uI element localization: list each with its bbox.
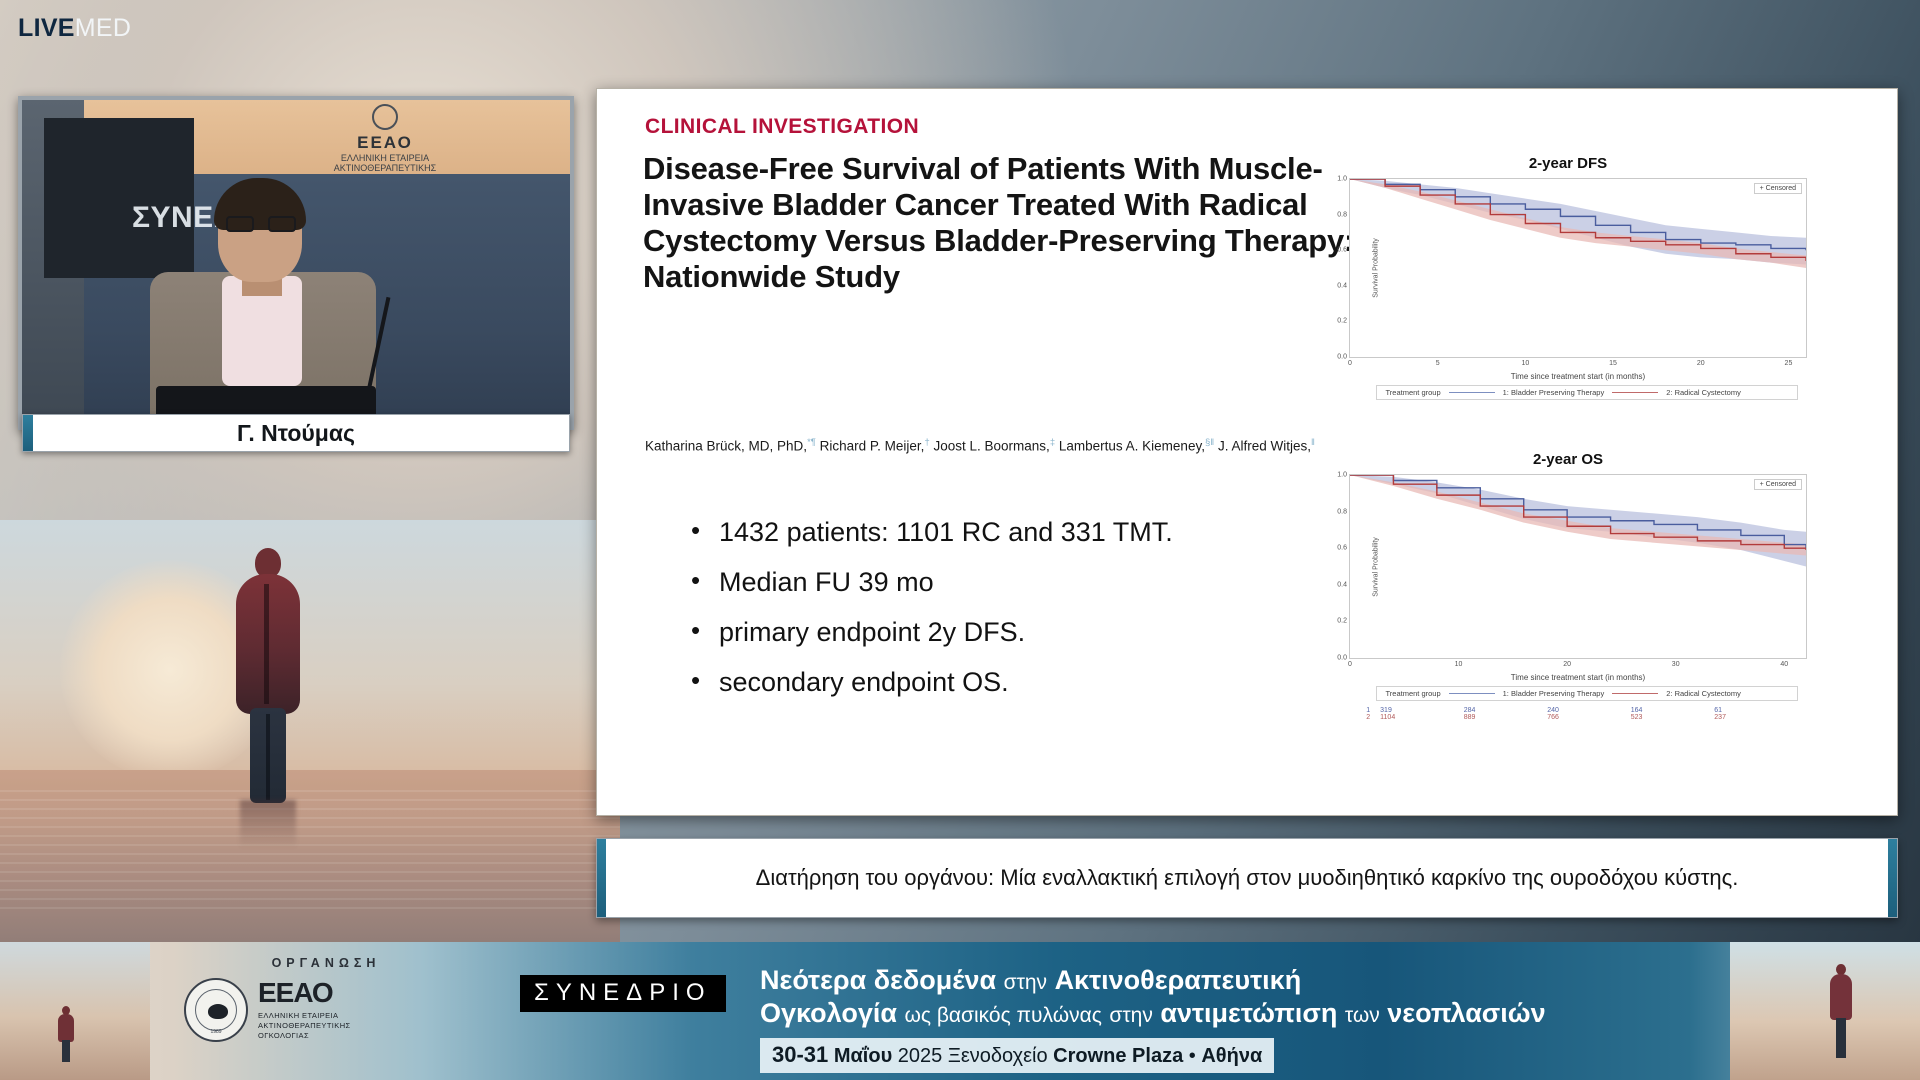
eeao-wordmark: ΕΕΑΟ ΕΛΛΗΝΙΚΗ ΕΤΑΙΡΕΙΑ ΑΚΤΙΝΟΘΕΡΑΠΕΥΤΙΚΗ… [258,979,351,1041]
at-risk-value: 319 [1380,707,1464,714]
author-name: J. Alfred Witjes, [1218,439,1311,454]
chart-y-tick: 0.6 [1337,247,1347,254]
chart-y-tick: 0.2 [1337,318,1347,325]
at-risk-value: 61 [1714,707,1798,714]
chart-svg [1350,475,1806,658]
organizer-label: ΟΡΓΑΝΩΣΗ [176,956,476,970]
chart-x-tick: 0 [1348,360,1352,367]
speaker-name: Γ. Ντούμας [237,420,355,447]
congress-line2-part1: Ογκολογία [760,998,897,1028]
eeao-seal-icon: 1989 [184,978,248,1042]
backdrop-org-line1: ΕΛΛΗΝΙΚΗ ΕΤΑΙΡΕΙΑ [310,153,460,163]
author-name: Joost L. Boormans, [934,439,1050,454]
chart-x-tick: 0 [1348,661,1352,668]
chart-svg [1350,179,1806,357]
author-affiliation-mark: ‡ [1050,437,1055,448]
author-name: Katharina Brück, MD, PhD, [645,439,807,454]
at-risk-row: 21104889766523237 [1358,714,1798,721]
chart-y-tick: 1.0 [1337,472,1347,479]
backdrop-org-logo: ΕΕΑΟ ΕΛΛΗΝΙΚΗ ΕΤΑΙΡΕΙΑ ΑΚΤΙΝΟΘΕΡΑΠΕΥΤΙΚΗ… [310,104,460,166]
congress-date-venue: 30-31 Μαΐου 2025 Ξενοδοχείο Crowne Plaza… [760,1038,1274,1073]
chart-y-tick: 0.8 [1337,508,1347,515]
seal-year: 1989 [186,1029,246,1035]
congress-line2-part6: νεοπλασιών [1387,998,1545,1028]
slide-bullet-item: secondary endpoint OS. [663,669,1403,696]
caption-text: Διατήρηση του οργάνου: Μία εναλλακτική ε… [756,864,1739,893]
chart-x-axis-label: Time since treatment start (in months) [1349,673,1807,682]
congress-title-block: Νεότερα δεδομένα στην Ακτινοθεραπευτική … [760,964,1760,1073]
author-affiliation-mark: *¶ [807,437,816,448]
broadcast-screen: LIVEMED ΕΕΑΟ ΕΛΛΗΝΙΚΗ ΕΤΑΙΡΕΙΑ ΑΚΤΙΝΟΘΕΡ… [0,0,1920,1080]
chart-legend-series-2: 2: Radical Cystectomy [1666,388,1741,397]
slide-bullet-item: Median FU 39 mo [663,569,1403,596]
chart-x-tick: 5 [1436,360,1440,367]
at-risk-value: 240 [1547,707,1631,714]
chart-legend-series-2: 2: Radical Cystectomy [1666,689,1741,698]
banner-left-art [0,942,150,1080]
backdrop-org-line2: ΑΚΤΙΝΟΘΕΡΑΠΕΥΤΙΚΗΣ [310,163,460,173]
backdrop-congress-text: ΣΥΝΕΔΡΙΟ [132,200,552,237]
chart-y-tick: 0.2 [1337,618,1347,625]
at-risk-value: 523 [1631,714,1715,721]
chart-legend-title: Treatment group [1385,388,1440,397]
chart-2-year-dfs: 2-year DFS Survival Probability + Censor… [1303,155,1833,358]
slide-title: Disease-Free Survival of Patients With M… [643,151,1403,295]
speaker-glasses-icon [226,216,296,232]
at-risk-group: 2 [1358,714,1380,721]
chart-title: 2-year OS [1303,451,1833,468]
author-affiliation-mark: ‖ [1311,437,1315,448]
chart-group-legend: Treatment group 1: Bladder Preserving Th… [1376,686,1797,701]
chart-legend-series-1: 1: Bladder Preserving Therapy [1503,689,1605,698]
author-name: Lambertus A. Kiemeney, [1059,439,1205,454]
at-risk-value: 237 [1714,714,1798,721]
congress-line2-part5: των [1345,1004,1380,1027]
eeao-line3: ΟΓΚΟΛΟΓΙΑΣ [258,1031,351,1041]
chart-y-tick: 0.4 [1337,282,1347,289]
chart-x-tick: 25 [1785,360,1793,367]
slide-authors: Katharina Brück, MD, PhD,*¶ Richard P. M… [645,437,1405,454]
legend-line-red [1612,392,1658,393]
conference-banner: ΟΡΓΑΝΩΣΗ 1989 ΕΕΑΟ ΕΛΛΗΝΙΚΗ ΕΤΑΙΡΕΙΑ ΑΚΤ… [0,942,1920,1080]
slide-bullet-item: primary endpoint 2y DFS. [663,619,1403,646]
logo-text-live: LIVE [18,14,75,42]
slide-caption-bar: Διατήρηση του οργάνου: Μία εναλλακτική ε… [596,838,1898,918]
legend-line-red [1612,693,1658,694]
backdrop-org-abbr: ΕΕΑΟ [310,133,460,153]
at-risk-value: 889 [1464,714,1548,721]
author-name: Richard P. Meijer, [820,439,925,454]
chart-y-tick: 0.8 [1337,211,1347,218]
congress-line2-part3: στην [1109,1004,1152,1027]
banner-organizer-block: ΟΡΓΑΝΩΣΗ 1989 ΕΕΑΟ ΕΛΛΗΝΙΚΗ ΕΤΑΙΡΕΙΑ ΑΚΤ… [176,956,476,1042]
chart-plot-area: Survival Probability + Censored 0.00.20.… [1349,178,1807,358]
congress-year: 2025 [898,1045,943,1067]
at-risk-value: 766 [1547,714,1631,721]
chart-legend-title: Treatment group [1385,689,1440,698]
at-risk-value: 284 [1464,707,1548,714]
background-figure-silhouette [222,548,314,848]
chart-x-tick: 40 [1780,661,1788,668]
at-risk-value: 164 [1631,707,1715,714]
eeao-line2: ΑΚΤΙΝΟΘΕΡΑΠΕΥΤΙΚΗΣ [258,1021,351,1031]
slide-kicker: CLINICAL INVESTIGATION [645,115,919,139]
chart-x-tick: 20 [1697,360,1705,367]
slide-bullet-list: 1432 patients: 1101 RC and 331 TMT.Media… [663,519,1403,719]
congress-line2-part4: αντιμετώπιση [1160,998,1337,1028]
eeao-abbr: ΕΕΑΟ [258,979,351,1007]
chart-x-tick: 10 [1455,661,1463,668]
congress-line1-part3: Ακτινοθεραπευτική [1055,965,1302,995]
congress-label-badge: ΣΥΝΕΔΡΙΟ [520,975,726,1012]
chart-title: 2-year DFS [1303,155,1833,172]
congress-line1-part1: Νεότερα δεδομένα [760,965,996,995]
chart-legend-series-1: 1: Bladder Preserving Therapy [1503,388,1605,397]
author-affiliation-mark: † [924,437,929,448]
livemed-logo: LIVEMED [18,14,131,43]
congress-line2-part2: ως βασικός πυλώνας [904,1004,1101,1027]
chart-at-risk-table: 13192842401646121104889766523237 [1358,707,1798,721]
logo-text-med: MED [75,14,131,42]
at-risk-group: 1 [1358,707,1380,714]
chart-x-tick: 20 [1563,661,1571,668]
chart-x-tick: 30 [1672,661,1680,668]
legend-line-blue [1449,392,1495,393]
speaker-nameplate: Γ. Ντούμας [22,414,570,452]
venue-prefix: Ξενοδοχείο [948,1045,1048,1067]
author-affiliation-mark: §‖ [1205,437,1214,448]
speaker-video-feed: ΕΕΑΟ ΕΛΛΗΝΙΚΗ ΕΤΑΙΡΕΙΑ ΑΚΤΙΝΟΘΕΡΑΠΕΥΤΙΚΗ… [22,100,570,426]
chart-y-tick: 1.0 [1337,176,1347,183]
chart-2-year-os: 2-year OS Survival Probability + Censore… [1303,451,1833,659]
chart-y-tick: 0.6 [1337,545,1347,552]
legend-line-blue [1449,693,1495,694]
slide-bullet-item: 1432 patients: 1101 RC and 331 TMT. [663,519,1403,546]
congress-month: Μαΐου [834,1045,892,1067]
chart-group-legend: Treatment group 1: Bladder Preserving Th… [1376,385,1797,400]
congress-date: 30-31 [772,1042,828,1067]
chart-y-tick: 0.4 [1337,581,1347,588]
at-risk-row: 131928424016461 [1358,707,1798,714]
presentation-slide[interactable]: CLINICAL INVESTIGATION Disease-Free Surv… [596,88,1898,816]
chart-x-tick: 10 [1521,360,1529,367]
congress-line1-part2: στην [1004,971,1047,994]
eeao-line1: ΕΛΛΗΝΙΚΗ ΕΤΑΙΡΕΙΑ [258,1011,351,1021]
chart-plot-area: Survival Probability + Censored 0.00.20.… [1349,474,1807,659]
at-risk-value: 1104 [1380,714,1464,721]
chart-x-tick: 15 [1609,360,1617,367]
chart-y-tick: 0.0 [1337,354,1347,361]
venue-name: Crowne Plaza [1053,1045,1183,1067]
chart-x-axis-label: Time since treatment start (in months) [1349,372,1807,381]
speaker-video-panel[interactable]: ΕΕΑΟ ΕΛΛΗΝΙΚΗ ΕΤΑΙΡΕΙΑ ΑΚΤΙΝΟΘΕΡΑΠΕΥΤΙΚΗ… [18,96,574,430]
chart-y-tick: 0.0 [1337,655,1347,662]
venue-city: Αθήνα [1201,1045,1262,1067]
